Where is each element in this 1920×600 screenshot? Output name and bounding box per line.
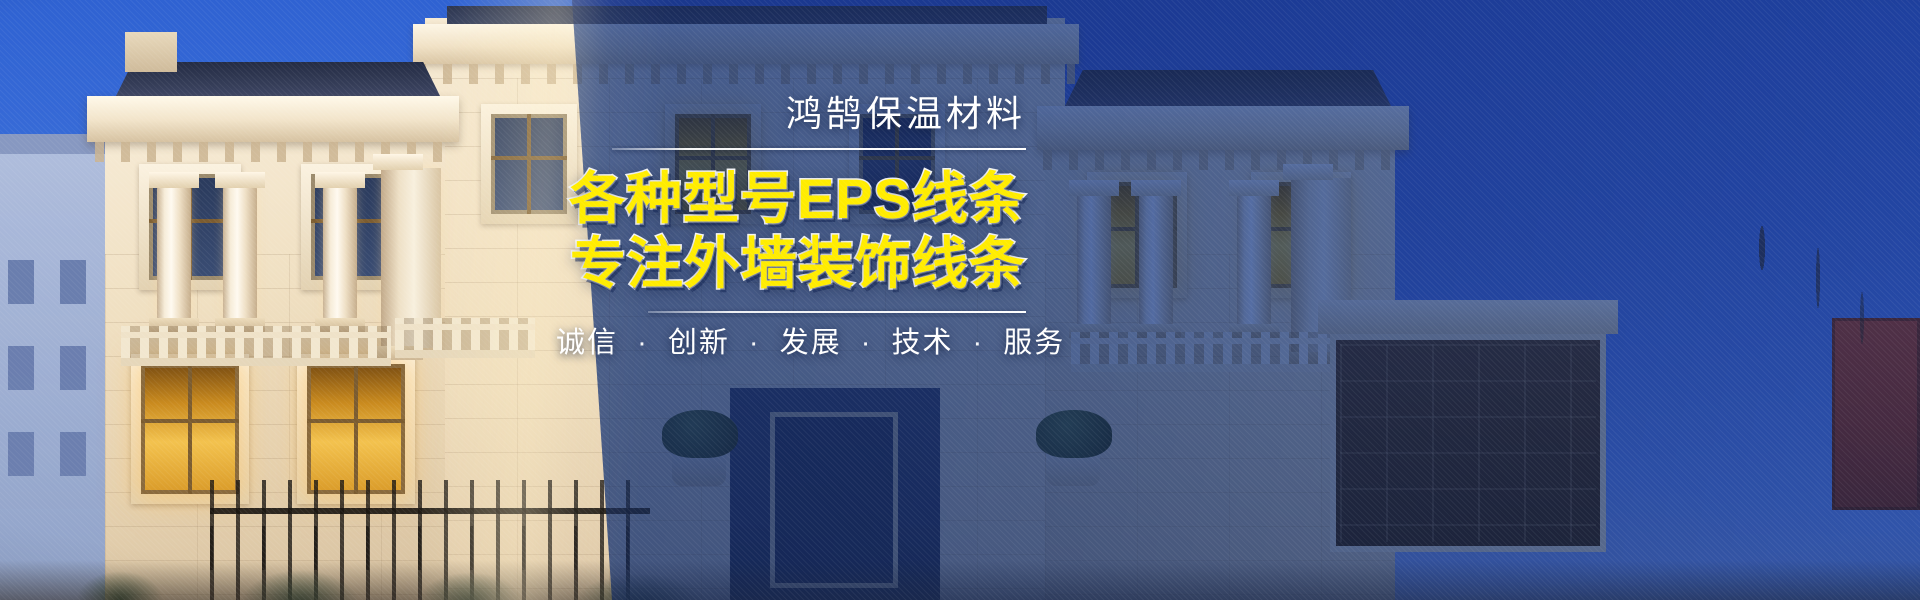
column xyxy=(323,186,357,320)
tagline-item: 服务 xyxy=(1003,327,1065,359)
balustrade xyxy=(395,318,535,358)
divider-bottom xyxy=(648,311,1026,313)
tagline-item: 发展 xyxy=(780,327,842,359)
column xyxy=(157,186,191,320)
balustrade xyxy=(121,326,391,366)
divider-top xyxy=(612,148,1026,150)
tagline-item: 创新 xyxy=(668,327,730,359)
headline-line-2: 专注外墙装饰线条 xyxy=(556,233,1026,296)
left-wing-cornice xyxy=(87,96,459,142)
tagline-item: 诚信 xyxy=(556,327,618,359)
chimney xyxy=(125,32,177,72)
tagline: 诚信 · 创新 · 发展 · 技术 · 服务 xyxy=(556,329,1026,358)
tagline-separator: · xyxy=(749,327,761,359)
banner-copy-block: 鸿鹄保温材料 各种型号EPS线条 专注外墙装饰线条 诚信 · 创新 · 发展 ·… xyxy=(556,96,1026,358)
tagline-item: 技术 xyxy=(891,327,953,359)
headline-line-1: 各种型号EPS线条 xyxy=(556,168,1026,231)
hero-banner: 鸿鹄保温材料 各种型号EPS线条 专注外墙装饰线条 诚信 · 创新 · 发展 ·… xyxy=(0,0,1920,600)
brand-name: 鸿鹄保温材料 xyxy=(556,96,1026,132)
column xyxy=(223,186,257,320)
tagline-separator: · xyxy=(861,327,873,359)
tagline-separator: · xyxy=(637,327,649,359)
tagline-separator: · xyxy=(973,327,985,359)
